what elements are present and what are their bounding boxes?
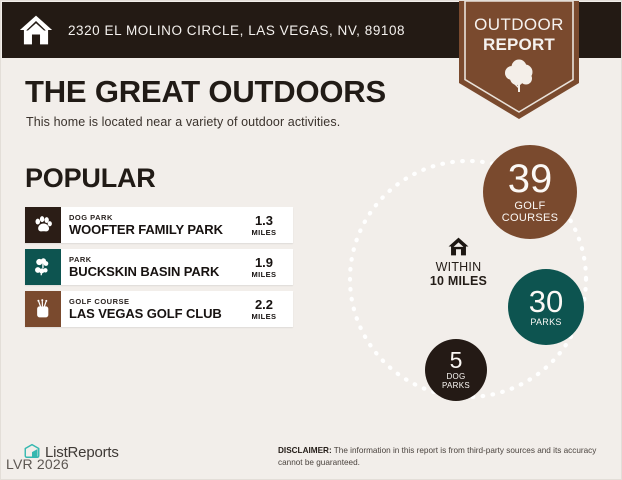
home-icon-svg <box>18 13 54 47</box>
stat-label-line-2: PARKS <box>442 381 470 390</box>
badge-line-2: REPORT <box>459 35 579 55</box>
list-item-distance-value: 2.2 <box>255 298 273 312</box>
list-item-distance-unit: MILES <box>252 312 277 321</box>
within-10-miles-infographic: WITHIN 10 MILES 39 GOLF COURSES 30 PARKS… <box>326 131 616 421</box>
page-subtitle: This home is located near a variety of o… <box>26 115 340 129</box>
paw-print-icon <box>32 214 54 236</box>
stat-bubble-golf-courses: 39 GOLF COURSES <box>483 145 577 239</box>
within-line-1: WITHIN <box>411 260 506 274</box>
page-title: THE GREAT OUTDOORS <box>25 74 386 110</box>
list-item-name: BUCKSKIN BASIN PARK <box>69 264 241 279</box>
list-item-distance: 2.2 MILES <box>241 291 293 327</box>
outdoor-report-badge: OUTDOOR REPORT <box>459 1 579 119</box>
stat-label-line-1: GOLF <box>514 200 545 212</box>
stat-count: 5 <box>450 349 463 372</box>
list-item[interactable]: DOG PARK WOOFTER FAMILY PARK 1.3 MILES <box>25 207 293 243</box>
popular-list: DOG PARK WOOFTER FAMILY PARK 1.3 MILES <box>25 207 293 333</box>
stat-label: DOG PARKS <box>442 373 470 390</box>
list-item[interactable]: GOLF COURSE LAS VEGAS GOLF CLUB 2.2 MILE… <box>25 291 293 327</box>
stat-label-line-2: COURSES <box>502 212 559 224</box>
stat-label: PARKS <box>530 318 561 328</box>
within-label-group: WITHIN 10 MILES <box>411 236 506 288</box>
disclaimer-label: DISCLAIMER: <box>278 446 332 455</box>
home-icon <box>18 13 54 47</box>
list-item-icon-box <box>25 291 61 327</box>
list-item-name: LAS VEGAS GOLF CLUB <box>69 306 241 321</box>
list-item-distance: 1.3 MILES <box>241 207 293 243</box>
list-item-icon-box <box>25 207 61 243</box>
badge-line-1: OUTDOOR <box>459 15 579 35</box>
list-item[interactable]: PARK BUCKSKIN BASIN PARK 1.9 MILES <box>25 249 293 285</box>
list-item-text: GOLF COURSE LAS VEGAS GOLF CLUB <box>61 291 241 327</box>
lvr-watermark: LVR 2026 <box>6 456 69 472</box>
header-address-group: 2320 EL MOLINO CIRCLE, LAS VEGAS, NV, 89… <box>18 2 405 58</box>
badge-text-group: OUTDOOR REPORT <box>459 15 579 55</box>
list-item-category: DOG PARK <box>69 213 241 222</box>
stat-count: 30 <box>529 286 563 317</box>
list-item-distance-unit: MILES <box>252 270 277 279</box>
list-item-category: PARK <box>69 255 241 264</box>
stat-count: 39 <box>508 159 553 199</box>
list-item-distance: 1.9 MILES <box>241 249 293 285</box>
list-item-name: WOOFTER FAMILY PARK <box>69 222 241 237</box>
disclaimer: DISCLAIMER: The information in this repo… <box>278 445 598 468</box>
list-item-category: GOLF COURSE <box>69 297 241 306</box>
list-item-distance-value: 1.3 <box>255 214 273 228</box>
property-address: 2320 EL MOLINO CIRCLE, LAS VEGAS, NV, 89… <box>68 23 405 38</box>
home-icon <box>447 236 470 257</box>
list-item-distance-unit: MILES <box>252 228 277 237</box>
list-item-distance-value: 1.9 <box>255 256 273 270</box>
stat-label: GOLF COURSES <box>502 201 559 225</box>
list-item-text: DOG PARK WOOFTER FAMILY PARK <box>61 207 241 243</box>
park-trees-icon <box>32 256 54 278</box>
outdoor-report-page: 2320 EL MOLINO CIRCLE, LAS VEGAS, NV, 89… <box>0 0 622 480</box>
list-item-text: PARK BUCKSKIN BASIN PARK <box>61 249 241 285</box>
within-line-2: 10 MILES <box>411 274 506 288</box>
stat-bubble-parks: 30 PARKS <box>508 269 584 345</box>
list-item-icon-box <box>25 249 61 285</box>
popular-heading: POPULAR <box>25 163 156 194</box>
stat-bubble-dog-parks: 5 DOG PARKS <box>425 339 487 401</box>
golf-bag-icon <box>32 298 54 320</box>
